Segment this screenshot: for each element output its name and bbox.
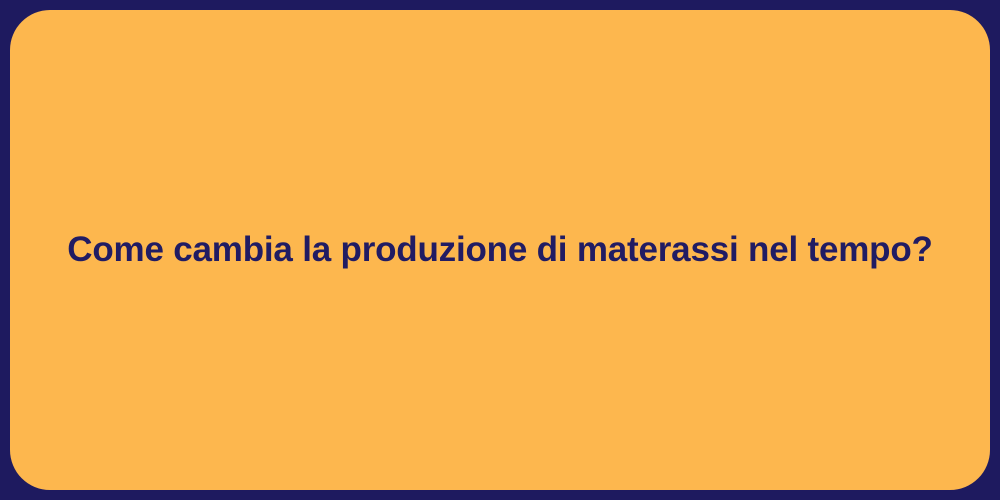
headline-card: Come cambia la produzione di materassi n…	[10, 10, 990, 490]
page-frame: Come cambia la produzione di materassi n…	[0, 0, 1000, 500]
page-title: Come cambia la produzione di materassi n…	[43, 229, 956, 271]
